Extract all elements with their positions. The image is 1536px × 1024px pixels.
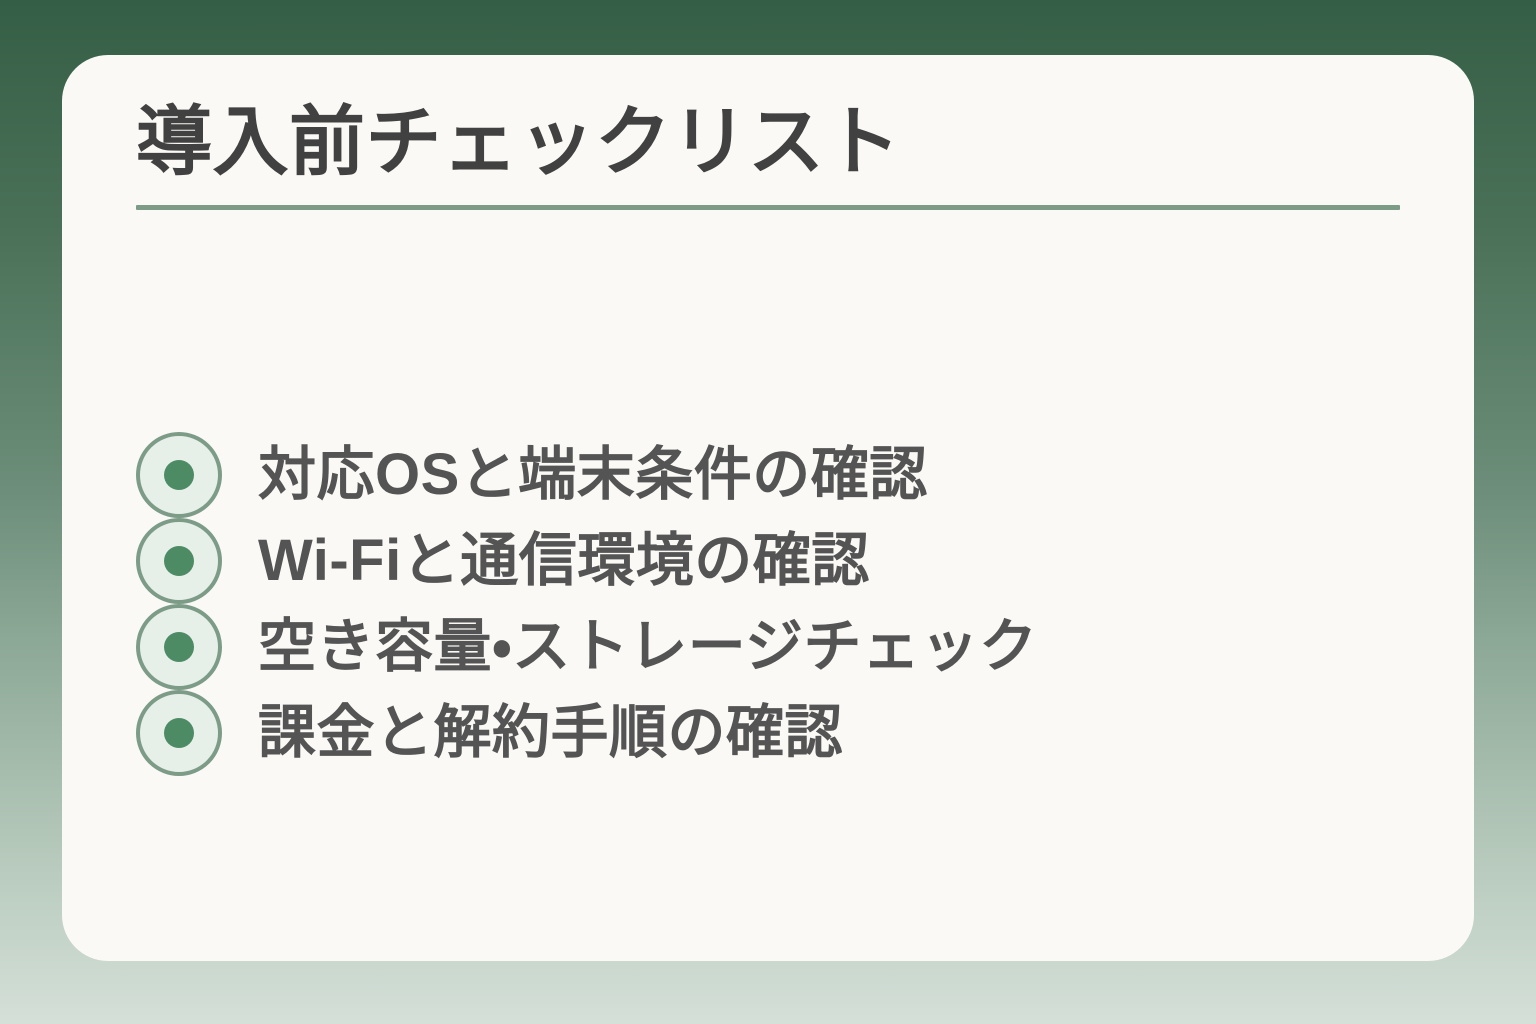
list-item-label: 課金と解約手順の確認 xyxy=(258,704,843,762)
filled-circle-bullet-icon xyxy=(136,518,222,604)
filled-circle-bullet-icon xyxy=(136,604,222,690)
list-item-label: 対応OSと端末条件の確認 xyxy=(258,446,928,504)
bullet-dot xyxy=(164,460,194,490)
checklist: 対応OSと端末条件の確認 Wi-Fiと通信環境の確認 空き容量・ストレージチェッ… xyxy=(136,432,1400,776)
card-inner: 導入前チェックリスト 対応OSと端末条件の確認 Wi-Fiと通信環境の確認 xyxy=(136,100,1400,961)
page-title: 導入前チェックリスト xyxy=(136,100,1400,189)
list-item-label: Wi-Fiと通信環境の確認 xyxy=(258,532,870,590)
list-item-label: 空き容量・ストレージチェック xyxy=(258,618,1038,676)
bullet-dot xyxy=(164,546,194,576)
bullet-dot xyxy=(164,718,194,748)
filled-circle-bullet-icon xyxy=(136,690,222,776)
bullet-dot xyxy=(164,632,194,662)
slide-canvas: 導入前チェックリスト 対応OSと端末条件の確認 Wi-Fiと通信環境の確認 xyxy=(0,0,1536,1024)
list-item[interactable]: 対応OSと端末条件の確認 xyxy=(136,432,1400,518)
content-card: 導入前チェックリスト 対応OSと端末条件の確認 Wi-Fiと通信環境の確認 xyxy=(62,55,1474,961)
list-item[interactable]: 空き容量・ストレージチェック xyxy=(136,604,1400,690)
title-divider xyxy=(136,205,1400,210)
list-item[interactable]: Wi-Fiと通信環境の確認 xyxy=(136,518,1400,604)
filled-circle-bullet-icon xyxy=(136,432,222,518)
list-item[interactable]: 課金と解約手順の確認 xyxy=(136,690,1400,776)
